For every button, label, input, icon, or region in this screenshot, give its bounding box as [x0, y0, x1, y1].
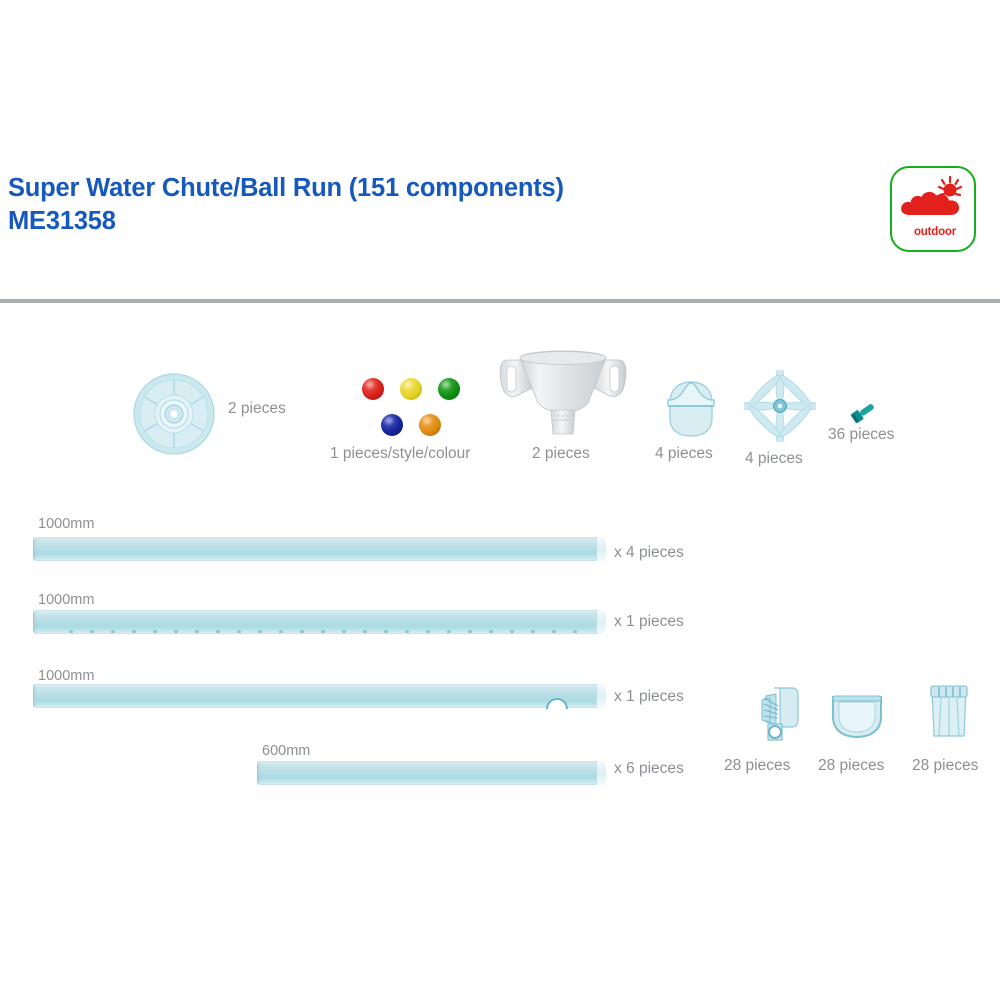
tube-notch [546, 698, 568, 709]
u-bracket-icon [828, 693, 886, 741]
balls-quantity-label: 1 pieces/style/colour [330, 445, 470, 463]
tube-plain-600 [257, 761, 605, 785]
tube-end-cap [596, 761, 606, 785]
tube-end-cap [596, 684, 606, 708]
cloud-sun-icon [892, 173, 978, 225]
pinwheel-quantity-label: 4 pieces [745, 450, 803, 468]
tube-3-length-label: 1000mm [38, 668, 94, 684]
sleeve-quantity-label: 28 pieces [912, 757, 978, 775]
ball-blue-icon [381, 414, 403, 436]
sleeve-icon [922, 682, 976, 744]
tube-left-edge [33, 685, 37, 707]
funnel-icon [498, 348, 628, 438]
page-title: Super Water Chute/Ball Run (151 componen… [8, 172, 848, 238]
pinwheel-icon [744, 370, 816, 442]
tube-end-cap [596, 610, 606, 634]
tube-3-quantity-label: x 1 pieces [614, 688, 684, 706]
tube-2-length-label: 1000mm [38, 592, 94, 608]
clip-icon [752, 684, 808, 746]
screw-quantity-label: 36 pieces [828, 426, 894, 444]
ball-group [362, 378, 462, 434]
tube-4-quantity-label: x 6 pieces [614, 760, 684, 778]
tube-2-quantity-label: x 1 pieces [614, 613, 684, 631]
tube-notched-1000 [33, 684, 605, 708]
tube-left-edge [33, 611, 37, 633]
outdoor-badge: outdoor [890, 166, 976, 252]
tube-end-cap [596, 537, 606, 561]
tube-4-length-label: 600mm [262, 743, 310, 759]
title-line-2: ME31358 [8, 205, 848, 238]
disc-icon [132, 372, 216, 456]
cap-quantity-label: 4 pieces [655, 445, 713, 463]
u-bracket-quantity-label: 28 pieces [818, 757, 884, 775]
ball-yellow-icon [400, 378, 422, 400]
tube-left-edge [257, 762, 261, 784]
screw-icon [848, 398, 878, 426]
tube-1-length-label: 1000mm [38, 516, 94, 532]
parts-list-page: Super Water Chute/Ball Run (151 componen… [0, 0, 1000, 1000]
tube-plain-1000 [33, 537, 605, 561]
tube-1-quantity-label: x 4 pieces [614, 544, 684, 562]
ball-orange-icon [419, 414, 441, 436]
clip-quantity-label: 28 pieces [724, 757, 790, 775]
tube-perforated-1000 [33, 610, 605, 634]
header-divider [0, 299, 1000, 303]
badge-label: outdoor [892, 226, 978, 238]
ball-red-icon [362, 378, 384, 400]
ball-green-icon [438, 378, 460, 400]
cap-icon [662, 378, 720, 440]
disc-quantity-label: 2 pieces [228, 400, 286, 418]
tube-left-edge [33, 538, 37, 560]
title-line-1: Super Water Chute/Ball Run (151 componen… [8, 172, 848, 205]
funnel-quantity-label: 2 pieces [532, 445, 590, 463]
